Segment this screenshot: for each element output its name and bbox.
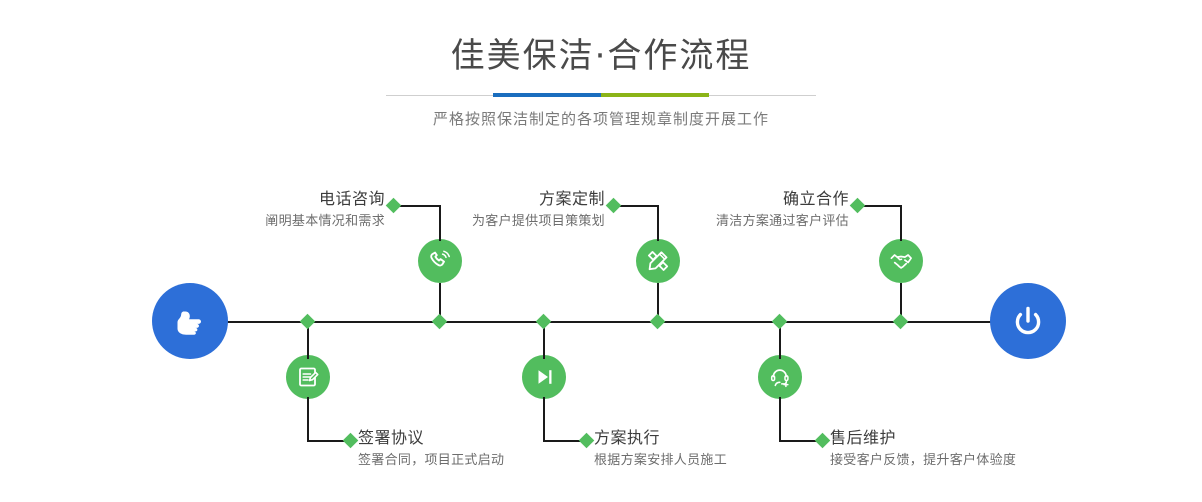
branch-marker-2 xyxy=(343,433,359,449)
step-node-1[interactable] xyxy=(418,239,462,283)
axis-marker-1 xyxy=(432,314,448,330)
axis-marker-4 xyxy=(536,314,552,330)
play-execute-icon xyxy=(531,364,557,390)
step-node-6[interactable] xyxy=(758,355,802,399)
step-node-5[interactable] xyxy=(879,239,923,283)
step-node-3[interactable] xyxy=(636,239,680,283)
axis-marker-6 xyxy=(772,314,788,330)
step-title-3: 方案定制 xyxy=(370,188,605,210)
step-title-4: 方案执行 xyxy=(594,427,854,449)
document-sign-icon xyxy=(295,364,321,390)
connector-vertical-6b xyxy=(779,397,781,441)
step-title-5: 确立合作 xyxy=(614,188,849,210)
step-label-6: 售后维护 接受客户反馈，提升客户体验度 xyxy=(830,427,1120,471)
headset-support-add-icon xyxy=(767,364,793,390)
header: 佳美保洁·合作流程 严格按照保洁制定的各项管理规章制度开展工作 xyxy=(0,34,1202,130)
flow-chart-canvas: 佳美保洁·合作流程 严格按照保洁制定的各项管理规章制度开展工作 xyxy=(0,0,1202,502)
phone-call-icon xyxy=(427,248,453,274)
step-label-1: 电话咨询 阐明基本情况和需求 xyxy=(150,188,385,232)
page-title: 佳美保洁·合作流程 xyxy=(0,34,1202,78)
branch-marker-5 xyxy=(850,198,866,214)
step-label-5: 确立合作 清洁方案通过客户评估 xyxy=(614,188,849,232)
step-desc-3: 为客户提供项目策策划 xyxy=(370,212,605,232)
step-desc-2: 签署合同，项目正式启动 xyxy=(358,451,618,471)
divider-segment-blue xyxy=(493,93,601,97)
page-subtitle: 严格按照保洁制定的各项管理规章制度开展工作 xyxy=(0,108,1202,130)
connector-vertical-5 xyxy=(900,205,902,241)
step-desc-1: 阐明基本情况和需求 xyxy=(150,212,385,232)
step-desc-4: 根据方案安排人员施工 xyxy=(594,451,854,471)
handshake-icon xyxy=(888,248,914,274)
step-label-4: 方案执行 根据方案安排人员施工 xyxy=(594,427,854,471)
connector-vertical-4b xyxy=(543,397,545,441)
flow-start-badge xyxy=(152,283,228,359)
step-label-2: 签署协议 签署合同，项目正式启动 xyxy=(358,427,618,471)
step-node-2[interactable] xyxy=(286,355,330,399)
step-desc-5: 清洁方案通过客户评估 xyxy=(614,212,849,232)
step-title-2: 签署协议 xyxy=(358,427,618,449)
flow-end-badge xyxy=(990,283,1066,359)
connector-vertical-2b xyxy=(307,397,309,441)
pencil-ruler-icon xyxy=(645,248,671,274)
axis-marker-2 xyxy=(300,314,316,330)
step-label-3: 方案定制 为客户提供项目策策划 xyxy=(370,188,605,232)
step-title-6: 售后维护 xyxy=(830,427,1120,449)
title-divider xyxy=(386,90,816,102)
step-title-1: 电话咨询 xyxy=(150,188,385,210)
thumbs-up-pointing-hand-icon xyxy=(168,299,212,343)
axis-marker-5 xyxy=(893,314,909,330)
divider-segment-green xyxy=(601,93,709,97)
power-icon xyxy=(1006,299,1050,343)
axis-marker-3 xyxy=(650,314,666,330)
step-node-4[interactable] xyxy=(522,355,566,399)
step-desc-6: 接受客户反馈，提升客户体验度 xyxy=(830,451,1120,471)
